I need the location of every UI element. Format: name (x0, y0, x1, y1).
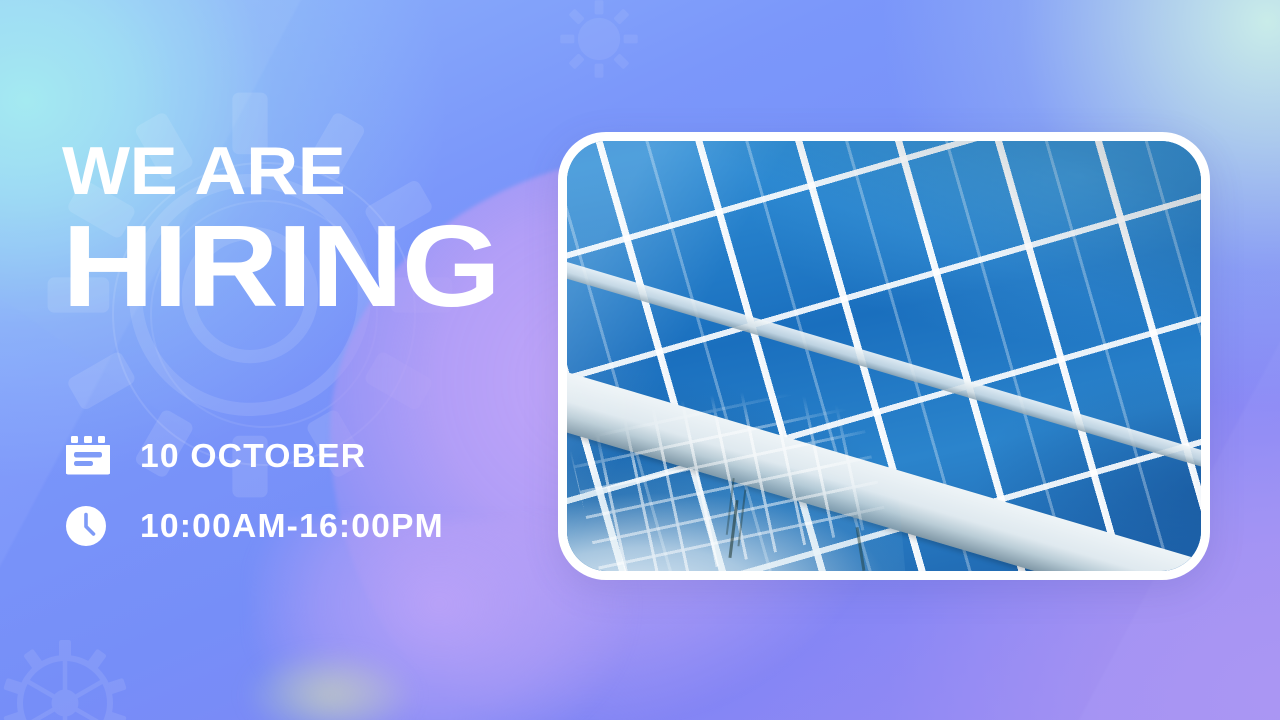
building-photo (567, 141, 1201, 571)
event-date-row: 10 OCTOBER (66, 428, 438, 484)
event-time-text: 10:00AM-16:00PM (140, 507, 444, 545)
photo-glare-overlay (567, 141, 1201, 571)
event-time-row: 10:00AM-16:00PM (66, 498, 438, 554)
photo-card (558, 132, 1210, 580)
event-details-list: 10 OCTOBER 10:00AM-16:00PM (66, 428, 438, 568)
headline-block: WE ARE HIRING (62, 140, 460, 321)
calendar-icon (66, 434, 114, 478)
headline-line-2: HIRING (62, 212, 499, 321)
text-column: WE ARE HIRING (0, 0, 560, 720)
hiring-poster: WE ARE HIRING (0, 0, 1280, 720)
headline-line-1: WE ARE (62, 140, 484, 204)
event-date-text: 10 OCTOBER (140, 437, 366, 475)
clock-icon (66, 504, 114, 548)
